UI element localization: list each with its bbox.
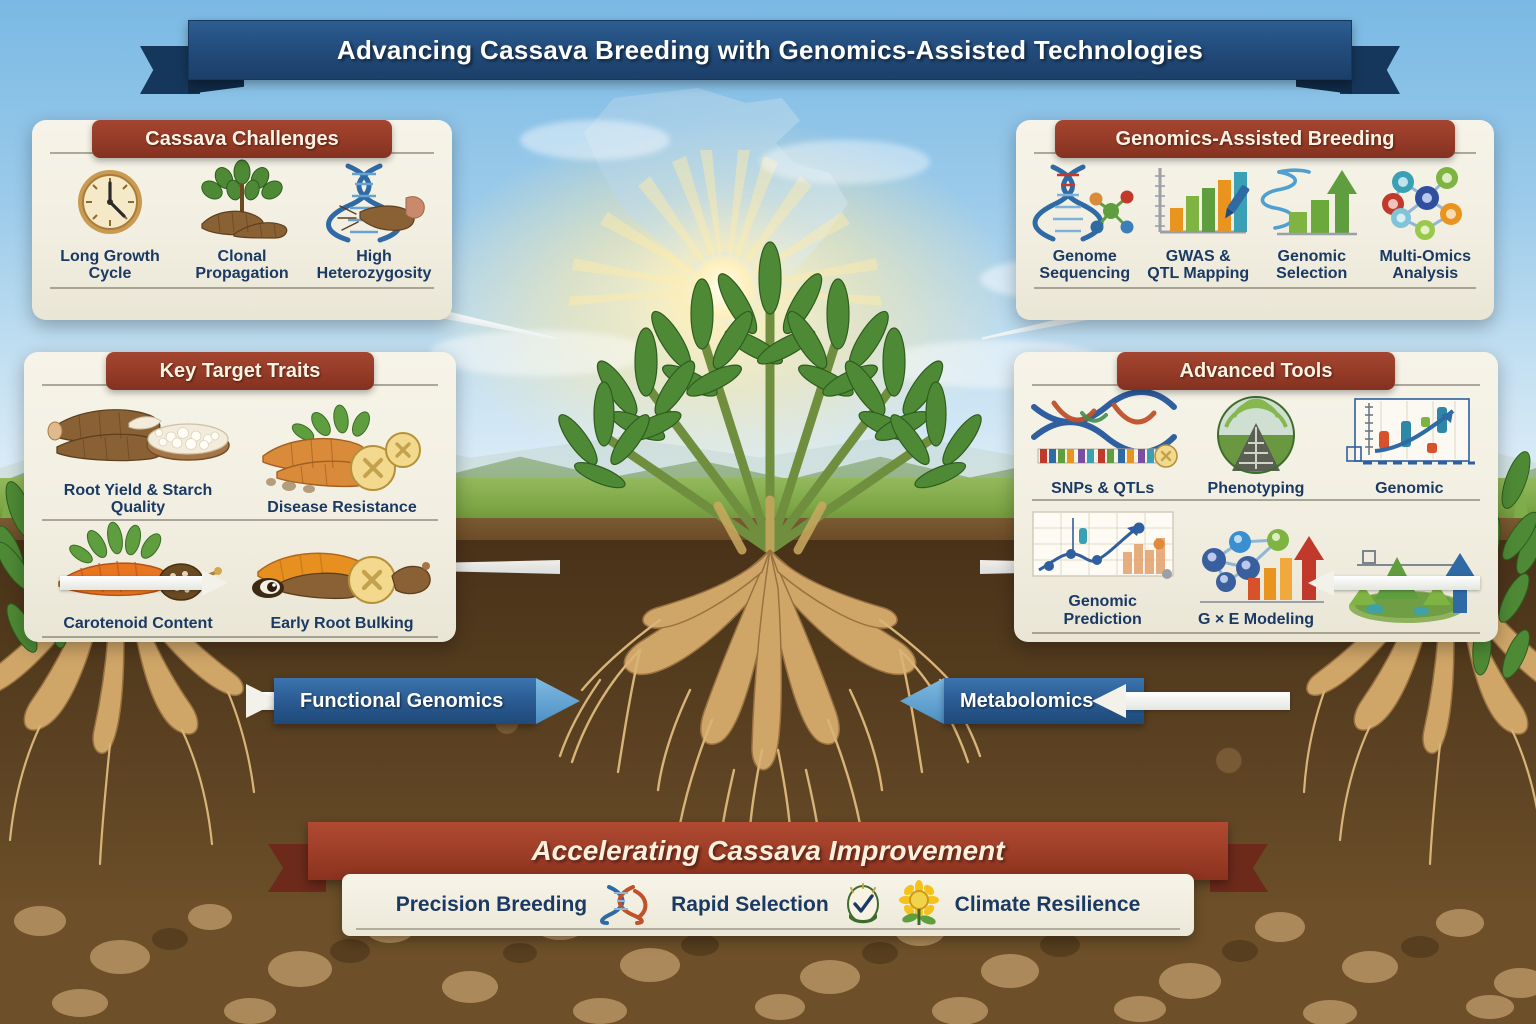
breeding-row: Genome Sequencing xyxy=(1028,160,1482,283)
panel-rule-mid xyxy=(42,519,438,521)
tool-label: Genomic Prediction xyxy=(1026,589,1179,628)
panel-header-challenges: Cassava Challenges xyxy=(92,120,392,158)
panel-genomics-assisted-breeding: Genome Sequencing xyxy=(1016,120,1494,320)
breeding-label: Genomic Selection xyxy=(1274,244,1349,283)
prediction-line-chart-icon xyxy=(1027,507,1179,589)
trait-label: Root Yield & Starch Quality xyxy=(36,478,240,517)
trait-label: Carotenoid Content xyxy=(61,611,214,632)
bottom-banner-rule xyxy=(356,928,1180,930)
challenge-label: High Heterozygosity xyxy=(315,244,434,283)
panel-header-label: Genomics-Assisted Breeding xyxy=(1094,128,1417,151)
tool-label xyxy=(1407,624,1411,628)
footer-item-rapid-selection[interactable]: Rapid Selection xyxy=(671,893,829,917)
page-title: Advancing Cassava Breeding with Genomics… xyxy=(337,35,1203,66)
challenges-row: Long Growth Cycle xyxy=(44,160,440,283)
arrow-head-left-icon xyxy=(900,678,944,724)
tool-genomic[interactable]: Genomic xyxy=(1333,392,1486,497)
footer-item-precision-breeding[interactable]: Precision Breeding xyxy=(396,893,587,917)
dna-snp-track-icon xyxy=(1028,392,1178,476)
clock-icon xyxy=(74,160,146,244)
tools-row-2: Genomic Prediction xyxy=(1026,507,1486,628)
bottom-banner-bar: Accelerating Cassava Improvement xyxy=(308,822,1228,880)
cloud-icon xyxy=(760,140,930,184)
tool-phenotyping[interactable]: Phenotyping xyxy=(1179,392,1332,497)
gxe-network-arrow-icon xyxy=(1186,525,1326,607)
challenge-clonal-propagation[interactable]: Clonal Propagation xyxy=(176,160,308,283)
arrow-shaft-right-white xyxy=(1110,692,1290,710)
bar-chart-icon xyxy=(1146,160,1250,244)
bottom-banner-subbar: Precision Breeding Rapid Selection xyxy=(342,874,1194,936)
flow-arrow-label: Functional Genomics xyxy=(300,690,503,713)
tool-field-growth[interactable] xyxy=(1333,507,1486,628)
flow-arrow-label: Metabolomics xyxy=(960,690,1093,713)
trait-label: Early Root Bulking xyxy=(268,611,415,632)
breeding-label: GWAS & QTL Mapping xyxy=(1145,244,1251,283)
panel-rule-bottom xyxy=(1032,632,1480,634)
tool-gxe-modeling[interactable]: G × E Modeling xyxy=(1179,507,1332,628)
bulking-root-icon xyxy=(252,527,432,611)
clock-check-icon xyxy=(843,884,883,926)
soil-arrow-left-shaft xyxy=(60,576,210,590)
trait-label: Disease Resistance xyxy=(265,495,418,516)
tools-row-1: SNPs & QTLs xyxy=(1026,392,1486,497)
panel-header-traits: Key Target Traits xyxy=(106,352,374,390)
dna-helix-icon xyxy=(1035,160,1135,244)
field-scan-icon xyxy=(1204,392,1308,476)
panel-rule-bottom xyxy=(42,636,438,638)
panel-header-label: Cassava Challenges xyxy=(123,128,360,151)
panel-advanced-tools: SNPs & QTLs xyxy=(1014,352,1498,642)
trait-disease-resistance[interactable]: Disease Resistance xyxy=(240,392,444,517)
network-nodes-icon xyxy=(1377,160,1473,244)
infographic-canvas: Advancing Cassava Breeding with Genomics… xyxy=(0,0,1536,1024)
panel-cassava-challenges: Long Growth Cycle xyxy=(32,120,452,320)
breeding-label: Multi-Omics Analysis xyxy=(1377,244,1473,283)
tool-snps-qtls[interactable]: SNPs & QTLs xyxy=(1026,392,1179,497)
challenge-long-growth-cycle[interactable]: Long Growth Cycle xyxy=(44,160,176,283)
tool-label: Phenotyping xyxy=(1206,476,1307,497)
tool-label: SNPs & QTLs xyxy=(1049,476,1156,497)
breeding-genomic-selection[interactable]: Genomic Selection xyxy=(1255,160,1369,283)
panel-header-tools: Advanced Tools xyxy=(1117,352,1395,390)
flow-arrow-functional-genomics[interactable]: Functional Genomics xyxy=(274,678,580,724)
panel-rule-bottom xyxy=(1034,287,1476,289)
tool-label: G × E Modeling xyxy=(1196,607,1316,628)
challenge-label: Long Growth Cycle xyxy=(58,244,162,283)
challenge-label: Clonal Propagation xyxy=(193,244,290,283)
panel-header-breeding: Genomics-Assisted Breeding xyxy=(1055,120,1455,158)
footer-item-climate-resilience[interactable]: Climate Resilience xyxy=(955,893,1141,917)
arrow-head-right-icon xyxy=(536,678,580,724)
panel-rule-mid xyxy=(1032,499,1480,501)
panel-header-label: Key Target Traits xyxy=(138,360,343,383)
soil-arrow-right-shaft xyxy=(1330,576,1480,590)
dna-growth-arrow-icon xyxy=(1263,160,1361,244)
traits-row-1: Root Yield & Starch Quality xyxy=(36,392,444,517)
panel-rule-bottom xyxy=(50,287,434,289)
dna-heterozygosity-icon xyxy=(322,160,426,244)
tool-genomic-prediction[interactable]: Genomic Prediction xyxy=(1026,507,1179,628)
sunflower-icon xyxy=(897,883,941,927)
genomic-trend-chart-icon xyxy=(1341,392,1477,476)
roots-starch-bowl-icon xyxy=(43,392,233,478)
healthy-root-icon xyxy=(257,409,427,495)
panel-key-target-traits: Root Yield & Starch Quality xyxy=(24,352,456,642)
breeding-label: Genome Sequencing xyxy=(1037,244,1132,283)
title-bar: Advancing Cassava Breeding with Genomics… xyxy=(188,20,1352,80)
center-cassava-plant xyxy=(490,250,1050,830)
trait-root-yield-starch-quality[interactable]: Root Yield & Starch Quality xyxy=(36,392,240,517)
panel-header-label: Advanced Tools xyxy=(1158,360,1355,383)
trait-early-root-bulking[interactable]: Early Root Bulking xyxy=(240,527,444,632)
breeding-genome-sequencing[interactable]: Genome Sequencing xyxy=(1028,160,1142,283)
bottom-banner-headline: Accelerating Cassava Improvement xyxy=(531,835,1004,867)
tool-label: Genomic xyxy=(1373,476,1445,497)
cassava-cutting-icon xyxy=(194,160,290,244)
dna-double-helix-icon xyxy=(601,885,657,925)
challenge-high-heterozygosity[interactable]: High Heterozygosity xyxy=(308,160,440,283)
carotenoid-root-icon xyxy=(53,527,223,611)
cloud-icon xyxy=(520,120,670,160)
title-banner: Advancing Cassava Breeding with Genomics… xyxy=(140,8,1400,88)
breeding-multi-omics-analysis[interactable]: Multi-Omics Analysis xyxy=(1369,160,1483,283)
breeding-gwas-qtl-mapping[interactable]: GWAS & QTL Mapping xyxy=(1142,160,1256,283)
